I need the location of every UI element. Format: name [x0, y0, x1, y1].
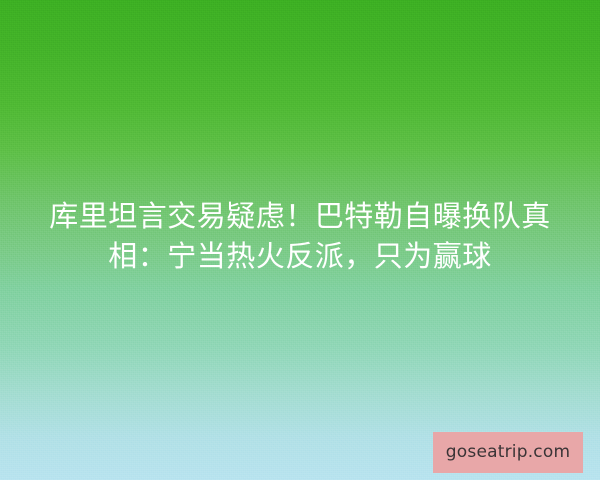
headline-block: 库里坦言交易疑虑！巴特勒自曝换队真相：宁当热火反派，只为赢球 [0, 196, 600, 276]
watermark-site-label: goseatrip.com [446, 444, 570, 461]
cover-headline: 库里坦言交易疑虑！巴特勒自曝换队真相：宁当热火反派，只为赢球 [22, 196, 578, 276]
watermark-badge: goseatrip.com [433, 432, 583, 473]
article-cover-image: 库里坦言交易疑虑！巴特勒自曝换队真相：宁当热火反派，只为赢球 goseatrip… [0, 0, 600, 480]
